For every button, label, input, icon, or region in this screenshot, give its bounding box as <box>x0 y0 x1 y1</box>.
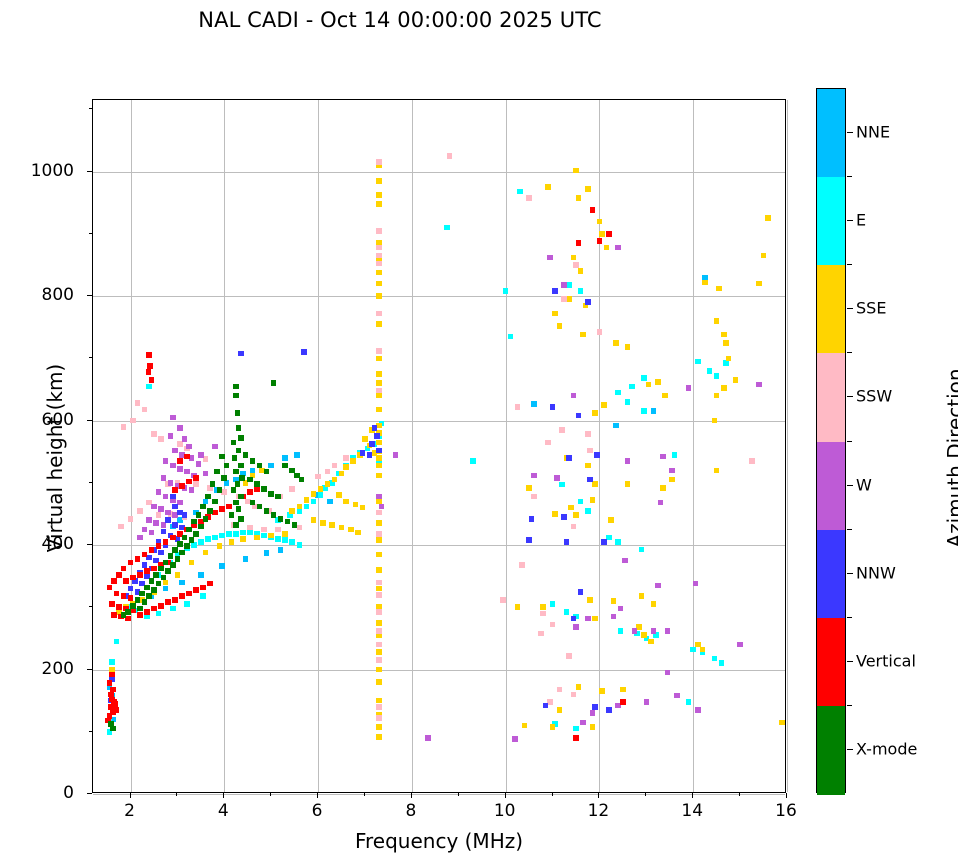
data-point-sse <box>641 632 647 638</box>
x-axis-minor-tick <box>176 793 177 796</box>
data-point-nnw <box>576 413 582 419</box>
data-point-x-mode <box>149 578 155 584</box>
data-point-sse <box>289 508 295 514</box>
data-point-w <box>573 624 579 630</box>
data-point-sse <box>669 477 675 483</box>
data-point-sse <box>376 192 382 198</box>
data-point-e <box>311 499 317 505</box>
data-point-ssw <box>128 516 134 522</box>
data-point-sse <box>318 486 324 492</box>
data-point-ssw <box>343 455 349 461</box>
data-point-ssw <box>571 524 577 530</box>
y-axis-title: Virtual height (km) <box>43 308 67 608</box>
data-point-ssw <box>376 704 382 710</box>
data-point-x-mode <box>271 380 277 386</box>
data-point-w <box>585 616 591 622</box>
data-point-ssw <box>376 657 382 663</box>
data-point-sse <box>733 377 739 383</box>
data-point-x-mode <box>212 499 218 505</box>
data-point-x-mode <box>207 508 213 514</box>
data-point-sse <box>189 560 195 566</box>
data-point-nnw <box>161 529 167 535</box>
data-point-ssw <box>538 631 544 637</box>
data-point-nnw <box>550 404 556 410</box>
colorbar-boundary-tick <box>847 705 852 706</box>
data-point-e <box>573 726 579 732</box>
data-point-sse <box>376 407 382 413</box>
data-point-sse <box>714 318 720 324</box>
data-point-w <box>571 393 577 399</box>
data-point-x-mode <box>257 504 263 510</box>
data-point-x-mode <box>233 500 239 506</box>
data-point-x-mode <box>200 504 206 510</box>
data-point-ssw <box>121 424 127 430</box>
data-point-w <box>655 583 661 589</box>
data-point-vertical <box>226 504 232 510</box>
data-point-x-mode <box>184 543 190 549</box>
data-point-e <box>170 606 176 612</box>
data-point-x-mode <box>142 599 148 605</box>
data-point-x-mode <box>189 537 195 543</box>
data-point-e <box>156 611 162 617</box>
data-point-x-mode <box>144 585 150 591</box>
data-point-x-mode <box>233 393 239 399</box>
data-point-ssw <box>545 440 551 446</box>
data-point-w <box>665 628 671 634</box>
gridline-horizontal <box>93 794 785 795</box>
data-point-w <box>651 628 657 634</box>
data-point-sse <box>662 393 668 399</box>
data-point-sse <box>660 485 666 491</box>
data-point-vertical <box>606 231 612 237</box>
data-point-x-mode <box>151 587 157 593</box>
data-point-e <box>508 334 514 340</box>
data-point-x-mode <box>170 562 176 568</box>
colorbar-tick <box>847 749 853 750</box>
colorbar-boundary-tick <box>847 264 852 265</box>
data-point-vertical <box>170 535 176 541</box>
data-point-sse <box>376 520 382 526</box>
colorbar-label-vertical: Vertical <box>856 651 916 670</box>
gridline-vertical <box>787 100 788 792</box>
data-point-w <box>622 558 628 564</box>
data-point-sse <box>360 505 366 511</box>
data-point-e <box>297 542 303 548</box>
data-point-sse <box>592 616 598 622</box>
data-point-e <box>184 601 190 607</box>
colorbar-label-nne: NNE <box>856 123 890 142</box>
data-point-ssw <box>500 597 506 603</box>
data-point-e <box>470 458 476 464</box>
colorbar-label-x-mode: X-mode <box>856 739 917 758</box>
data-point-x-mode <box>163 560 169 566</box>
data-point-sse <box>332 477 338 483</box>
data-point-e <box>205 536 211 542</box>
data-point-sse <box>587 597 593 603</box>
x-axis-tick-label: 4 <box>193 801 253 821</box>
data-point-e <box>517 189 523 195</box>
data-point-x-mode <box>175 556 181 562</box>
data-point-nnw <box>301 349 307 355</box>
data-point-vertical <box>172 597 178 603</box>
data-point-sse <box>580 332 586 338</box>
x-axis-tick-label: 6 <box>287 801 347 821</box>
data-point-w <box>161 475 167 481</box>
data-point-x-mode <box>110 726 116 732</box>
data-point-x-mode <box>161 575 167 581</box>
data-point-x-mode <box>153 572 159 578</box>
data-point-nne <box>613 423 619 429</box>
x-axis-tick <box>130 793 131 798</box>
data-point-e <box>615 390 621 396</box>
data-point-w <box>146 517 152 523</box>
data-point-nnw <box>367 452 373 458</box>
data-point-e <box>578 499 584 505</box>
data-point-sse <box>639 593 645 599</box>
colorbar-segment-nnw <box>817 530 845 619</box>
data-point-vertical <box>146 352 152 358</box>
data-point-sse <box>343 499 349 505</box>
data-point-e <box>247 530 253 536</box>
data-point-e <box>629 384 635 390</box>
data-point-sse <box>545 184 551 190</box>
y-axis-tick <box>87 295 92 296</box>
x-axis-tick-label: 12 <box>568 801 628 821</box>
data-point-ssw <box>571 692 577 698</box>
y-axis-tick-label: 1000 <box>14 161 74 181</box>
data-point-x-mode <box>179 550 185 556</box>
data-point-x-mode <box>299 477 305 483</box>
data-point-sse <box>599 231 605 237</box>
data-point-e <box>615 539 621 545</box>
data-point-vertical <box>172 487 178 493</box>
data-point-x-mode <box>135 597 141 603</box>
data-point-e <box>695 359 701 365</box>
figure-title: NAL CADI - Oct 14 00:00:00 2025 UTC <box>0 8 800 32</box>
data-point-vertical <box>151 606 157 612</box>
colorbar-segment-ssw <box>817 353 845 442</box>
data-point-w <box>590 710 596 716</box>
data-point-vertical <box>179 483 185 489</box>
data-point-vertical <box>128 595 134 601</box>
data-point-sse <box>552 311 558 317</box>
data-point-sse <box>756 281 762 287</box>
data-point-sse <box>585 463 591 469</box>
data-point-e <box>282 537 288 543</box>
data-point-w <box>189 487 195 493</box>
data-point-e <box>625 399 631 405</box>
data-point-nnw <box>585 299 591 305</box>
data-point-w <box>149 530 155 536</box>
data-point-ssw <box>135 400 141 406</box>
data-point-ssw <box>376 580 382 586</box>
data-point-sse <box>329 522 335 528</box>
data-point-w <box>165 510 171 516</box>
data-point-sse <box>376 380 382 386</box>
data-point-nne <box>268 463 274 469</box>
data-point-nne <box>163 586 169 592</box>
data-point-sse <box>655 379 661 385</box>
data-point-vertical <box>163 539 169 545</box>
data-point-nnw <box>170 494 176 500</box>
data-point-x-mode <box>236 506 242 512</box>
data-point-sse <box>203 550 209 556</box>
data-point-sse <box>362 436 368 442</box>
data-point-nne <box>198 572 204 578</box>
data-point-x-mode <box>177 541 183 547</box>
data-point-e <box>240 530 246 536</box>
data-point-e <box>714 373 720 379</box>
data-point-x-mode <box>186 527 192 533</box>
data-point-w <box>547 255 553 261</box>
data-point-sse <box>217 543 223 549</box>
data-point-vertical <box>135 556 141 562</box>
data-point-ssw <box>566 653 572 659</box>
data-point-x-mode <box>156 581 162 587</box>
data-point-ssw <box>275 527 281 533</box>
data-point-sse <box>613 340 619 346</box>
data-point-ssw <box>193 481 199 487</box>
data-point-e <box>559 482 565 488</box>
data-point-x-mode <box>271 512 277 518</box>
data-point-w <box>203 471 209 477</box>
data-point-x-mode <box>257 463 263 469</box>
data-point-x-mode <box>231 440 237 446</box>
y-axis-tick <box>87 420 92 421</box>
data-point-nnw <box>376 448 382 454</box>
data-point-e <box>639 547 645 553</box>
data-point-sse <box>573 168 579 174</box>
data-point-e <box>304 504 310 510</box>
data-point-e <box>503 288 509 294</box>
data-point-sse <box>376 679 382 685</box>
data-point-x-mode <box>247 477 253 483</box>
data-point-nnw <box>587 477 593 483</box>
data-point-ssw <box>137 508 143 514</box>
data-point-x-mode <box>172 547 178 553</box>
data-point-w <box>153 520 159 526</box>
data-point-sse <box>254 535 260 541</box>
data-point-ssw <box>561 296 567 302</box>
data-point-sse <box>348 527 354 533</box>
data-point-vertical <box>156 543 162 549</box>
data-point-w <box>376 494 382 500</box>
data-point-vertical <box>254 486 260 492</box>
colorbar-label-e: E <box>856 211 866 230</box>
colorbar-label-nnw: NNW <box>856 563 896 582</box>
data-point-w <box>161 522 167 528</box>
data-point-sse <box>648 639 654 645</box>
data-point-nnw <box>578 589 584 595</box>
data-point-vertical <box>109 672 115 678</box>
data-point-w <box>695 707 701 713</box>
data-point-x-mode <box>214 469 220 475</box>
data-point-sse <box>515 604 521 610</box>
data-point-sse <box>376 178 382 184</box>
colorbar-label-sse: SSE <box>856 299 886 318</box>
y-axis-tick-label: 0 <box>14 783 74 803</box>
data-point-nnw <box>128 586 134 592</box>
data-point-vertical <box>247 489 253 495</box>
colorbar-tick <box>847 573 853 574</box>
data-point-sse <box>576 195 582 201</box>
data-point-vertical <box>144 568 150 574</box>
x-axis-tick-label: 8 <box>381 801 441 821</box>
data-point-x-mode <box>250 500 256 506</box>
data-point-w <box>156 489 162 495</box>
data-point-w <box>665 670 671 676</box>
data-point-sse <box>376 698 382 704</box>
data-point-vertical <box>219 506 225 512</box>
data-point-w <box>158 506 164 512</box>
data-point-sse <box>702 280 708 286</box>
data-point-w <box>737 642 743 648</box>
data-point-w <box>669 468 675 474</box>
data-point-vertical <box>111 612 117 618</box>
data-point-sse <box>240 536 246 542</box>
data-point-e <box>289 539 295 545</box>
data-point-ssw <box>376 348 382 354</box>
data-point-x-mode <box>261 486 267 492</box>
data-point-nne <box>327 499 333 505</box>
data-point-vertical <box>597 238 603 244</box>
data-point-nne <box>278 547 284 553</box>
data-point-nnw <box>360 450 366 456</box>
x-axis-tick-label: 16 <box>756 801 816 821</box>
data-point-nne <box>224 480 230 486</box>
y-axis-tick <box>87 544 92 545</box>
data-point-x-mode <box>182 535 188 541</box>
data-point-ssw <box>587 448 593 454</box>
data-point-w <box>393 452 399 458</box>
data-point-ssw <box>519 562 525 568</box>
data-point-nnw <box>594 452 600 458</box>
data-point-e <box>261 533 267 539</box>
x-axis-minor-tick <box>739 793 740 796</box>
data-point-sse <box>700 647 706 653</box>
data-point-sse <box>376 393 382 399</box>
data-point-ssw <box>376 592 382 598</box>
data-point-x-mode <box>236 448 242 454</box>
x-axis-tick <box>223 793 224 798</box>
data-point-x-mode <box>233 522 239 528</box>
data-point-sse <box>557 323 563 329</box>
data-point-e <box>233 531 239 537</box>
data-point-x-mode <box>168 553 174 559</box>
data-point-x-mode <box>236 425 242 431</box>
y-axis-minor-tick <box>89 606 92 607</box>
colorbar-boundary-tick <box>847 617 852 618</box>
data-point-sse <box>376 649 382 655</box>
data-point-vertical <box>193 475 199 481</box>
data-point-x-mode <box>221 475 227 481</box>
data-point-ssw <box>247 525 253 531</box>
data-point-x-mode <box>193 531 199 537</box>
data-point-sse <box>304 497 310 503</box>
data-point-x-mode <box>275 494 281 500</box>
data-point-w <box>660 454 666 460</box>
data-point-x-mode <box>191 519 197 525</box>
data-point-e <box>641 408 647 414</box>
data-point-x-mode <box>254 481 260 487</box>
data-point-nnw <box>552 288 558 294</box>
data-point-sse <box>376 724 382 730</box>
data-point-vertical <box>147 363 153 369</box>
data-point-w <box>177 466 183 472</box>
x-axis-tick-label: 14 <box>662 801 722 821</box>
data-point-sse <box>608 517 614 523</box>
data-point-w <box>379 504 385 510</box>
data-point-w <box>168 433 174 439</box>
colorbar-segment-e <box>817 177 845 266</box>
data-point-w <box>615 245 621 251</box>
data-point-e <box>723 360 729 366</box>
data-point-ssw <box>597 329 603 335</box>
data-point-sse <box>376 356 382 362</box>
colorbar-tick <box>847 661 853 662</box>
data-point-e <box>318 492 324 498</box>
data-point-x-mode <box>137 606 143 612</box>
data-point-nnw <box>606 707 612 713</box>
data-point-sse <box>376 620 382 626</box>
y-axis-minor-tick <box>89 357 92 358</box>
data-point-sse <box>540 604 546 610</box>
data-point-vertical <box>165 599 171 605</box>
data-point-w <box>137 535 143 541</box>
data-point-x-mode <box>130 603 136 609</box>
data-point-w <box>182 436 188 442</box>
data-point-vertical <box>107 585 113 591</box>
data-point-e <box>690 647 696 653</box>
data-point-sse <box>601 402 607 408</box>
data-point-sse <box>604 245 610 251</box>
x-axis-tick-label: 2 <box>100 801 160 821</box>
data-point-nnw <box>238 351 244 357</box>
data-point-x-mode <box>165 568 171 574</box>
colorbar-tick <box>847 396 853 397</box>
data-point-sse <box>599 688 605 694</box>
data-point-e <box>618 628 624 634</box>
colorbar-tick <box>847 132 853 133</box>
data-point-ssw <box>325 469 331 475</box>
data-point-x-mode <box>233 384 239 390</box>
scatter-layer <box>93 100 785 792</box>
data-point-ssw <box>559 427 565 433</box>
colorbar-tick <box>847 485 853 486</box>
data-point-sse <box>625 344 631 350</box>
x-axis-tick <box>411 793 412 798</box>
data-point-w <box>172 448 178 454</box>
data-point-x-mode <box>238 494 244 500</box>
colorbar-boundary-tick <box>847 529 852 530</box>
data-point-vertical <box>177 458 183 464</box>
data-point-vertical <box>113 701 119 707</box>
data-point-w <box>756 382 762 388</box>
colorbar <box>816 88 846 793</box>
data-point-ssw <box>540 611 546 617</box>
data-point-w <box>163 494 169 500</box>
data-point-x-mode <box>292 522 298 528</box>
data-point-e <box>641 375 647 381</box>
x-axis-tick <box>598 793 599 798</box>
data-point-ssw <box>177 441 183 447</box>
data-point-w <box>168 480 174 486</box>
data-point-nnw <box>172 504 178 510</box>
x-axis-tick <box>786 793 787 798</box>
data-point-nne <box>294 452 300 458</box>
data-point-sse <box>297 504 303 510</box>
data-point-sse <box>716 286 722 292</box>
